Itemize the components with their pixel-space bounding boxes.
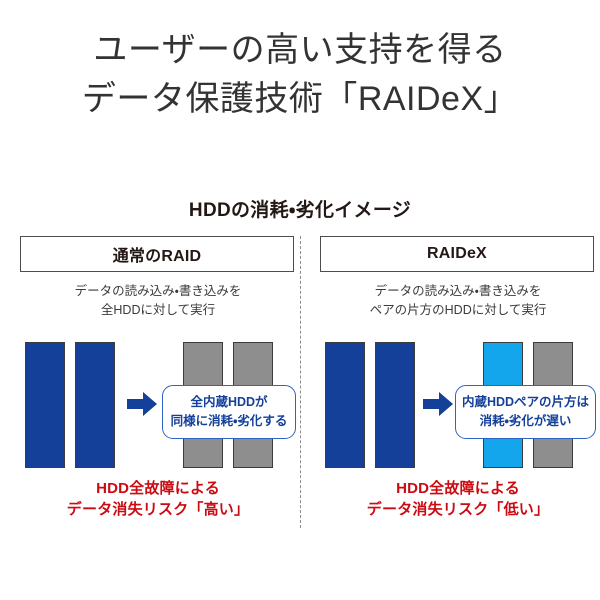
panel-description-raidex: データの読み込み・書き込みを ペアの片方のHDDに対して実行 [320, 282, 596, 321]
panel-description-line-2: 全HDDに対して実行 [20, 301, 296, 320]
risk-text-normal-raid: HDD全故障による データ消失リスク「高い」 [20, 478, 296, 521]
risk-line-1: HDD全故障による [320, 478, 596, 499]
panel-description-line-1: データの読み込み・書き込みを [320, 282, 596, 301]
hdd-bar-2 [375, 342, 415, 468]
section-subtitle: HDDの消耗・劣化イメージ [0, 195, 600, 222]
panel-header-normal-raid: 通常のRAID [20, 236, 294, 272]
right-arrow-icon [423, 391, 453, 417]
callout-line-2: 同様に消耗・劣化する [171, 412, 288, 431]
panel-normal-raid: 通常のRAID データの読み込み・書き込みを 全HDDに対して実行 全内蔵HDD… [20, 236, 296, 536]
callout-line-2: 消耗・劣化が遅い [480, 412, 572, 431]
risk-text-raidex: HDD全故障による データ消失リスク「低い」 [320, 478, 596, 521]
page-title-line-1: ユーザーの高い支持を得る [0, 26, 600, 75]
panel-description-line-2: ペアの片方のHDDに対して実行 [320, 301, 596, 320]
panel-header-label: 通常のRAID [113, 242, 202, 266]
callout-line-1: 内蔵HDDペアの片方は [462, 393, 589, 412]
callout-normal-raid: 全内蔵HDDが 同様に消耗・劣化する [162, 385, 296, 439]
risk-line-1: HDD全故障による [20, 478, 296, 499]
callout-raidex: 内蔵HDDペアの片方は 消耗・劣化が遅い [455, 385, 596, 439]
panel-description-line-1: データの読み込み・書き込みを [20, 282, 296, 301]
page-title: ユーザーの高い支持を得る データ保護技術「RAIDeX」 [0, 26, 600, 125]
hdd-bar-1 [325, 342, 365, 468]
callout-line-1: 全内蔵HDDが [190, 393, 267, 412]
risk-line-2: データ消失リスク「低い」 [320, 499, 596, 520]
hdd-bar-1 [25, 342, 65, 468]
panel-divider [300, 236, 301, 528]
panel-raidex: RAIDeX データの読み込み・書き込みを ペアの片方のHDDに対して実行 内蔵… [320, 236, 596, 536]
panel-description-normal-raid: データの読み込み・書き込みを 全HDDに対して実行 [20, 282, 296, 321]
panel-header-raidex: RAIDeX [320, 236, 594, 272]
risk-line-2: データ消失リスク「高い」 [20, 499, 296, 520]
page-title-line-2: データ保護技術「RAIDeX」 [0, 75, 600, 124]
hdd-bar-2 [75, 342, 115, 468]
right-arrow-icon [127, 391, 157, 417]
panel-header-label: RAIDeX [427, 245, 487, 263]
